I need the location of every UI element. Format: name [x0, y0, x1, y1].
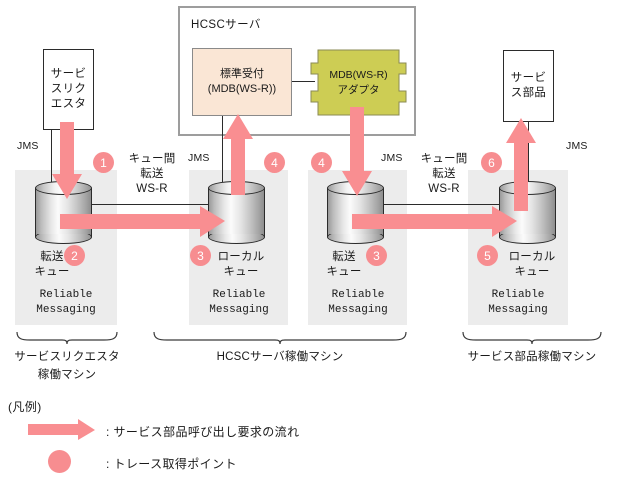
diagram-canvas: HCSCサーバ 標準受付 (MDB(WS-R)) MDB(WS-R) アダプタ … — [0, 0, 619, 480]
machine-label-component: サービス部品稼働マシン — [462, 350, 602, 365]
queue-2-name-line2: キュー — [210, 265, 272, 280]
legend-title: (凡例) — [8, 398, 42, 415]
service-component-box: サービ ス部品 — [503, 50, 554, 122]
standard-reception-box: 標準受付 (MDB(WS-R)) — [192, 48, 292, 116]
machine-label-requester-line1: サービスリクエスタ — [0, 350, 134, 365]
queue-1-rm-line1: Reliable — [16, 288, 116, 302]
legend-arrow-label: : サービス部品呼び出し要求の流れ — [106, 423, 299, 440]
legend-circle-icon — [48, 450, 71, 473]
queue-3-name-line1: 転送 — [316, 250, 372, 265]
queue-transfer-label-right: キュー間 転送 WS-R — [409, 152, 479, 197]
machine-label-requester-line2: 稼働マシン — [0, 368, 134, 383]
queue-1-rm-line2: Messaging — [16, 303, 116, 317]
flow-arrow-right-2 — [352, 205, 518, 239]
brace-hcsc — [153, 331, 407, 345]
queue-4-rm-line1: Reliable — [468, 288, 568, 302]
machine-label-hcsc: HCSCサーバ稼働マシン — [210, 350, 350, 365]
flow-arrow-down-2 — [341, 107, 373, 197]
service-component-label: サービ ス部品 — [511, 71, 546, 101]
service-requester-label: サービ スリク エスタ — [51, 67, 86, 112]
brace-requester — [16, 331, 118, 345]
queue-transfer-label-left: キュー間 転送 WS-R — [117, 152, 187, 197]
flow-arrow-down-1 — [51, 122, 83, 200]
queue-2-name-line1: ローカル — [210, 250, 272, 265]
trace-point-4a: 4 — [264, 152, 285, 173]
flow-arrow-up-1 — [222, 114, 254, 196]
service-requester-box: サービ スリク エスタ — [43, 49, 94, 130]
queue-2-rm-line2: Messaging — [189, 303, 289, 317]
standard-reception-line1: 標準受付 — [220, 67, 264, 82]
queue-4-name-line1: ローカル — [501, 250, 563, 265]
queue-2-rm-line1: Reliable — [189, 288, 289, 302]
flow-arrow-up-2 — [505, 118, 537, 212]
trace-point-1: 1 — [93, 152, 114, 173]
trace-point-6: 6 — [481, 152, 502, 173]
trace-point-4b: 4 — [311, 152, 332, 173]
jms-label-right: JMS — [566, 140, 588, 152]
jms-label-mid-left: JMS — [188, 152, 210, 164]
jms-label-left: JMS — [17, 140, 39, 152]
trace-point-5: 5 — [477, 245, 498, 266]
brace-component — [462, 331, 602, 345]
standard-reception-line2: (MDB(WS-R)) — [208, 82, 276, 97]
flow-arrow-right-1 — [60, 205, 226, 239]
trace-point-2: 2 — [64, 245, 85, 266]
queue-1-name-line2: キュー — [24, 265, 80, 280]
queue-4-name-line2: キュー — [501, 265, 563, 280]
legend-circle-label: : トレース取得ポイント — [106, 455, 237, 472]
trace-point-3b: 3 — [366, 245, 387, 266]
trace-point-3a: 3 — [190, 245, 211, 266]
queue-4-rm-line2: Messaging — [468, 303, 568, 317]
legend-arrow-icon — [28, 419, 96, 441]
hcsc-server-title: HCSCサーバ — [191, 16, 261, 32]
queue-3-rm-line1: Reliable — [308, 288, 408, 302]
jms-label-mid-right: JMS — [381, 152, 403, 164]
queue-3-name-line2: キュー — [316, 265, 372, 280]
queue-3-rm-line2: Messaging — [308, 303, 408, 317]
